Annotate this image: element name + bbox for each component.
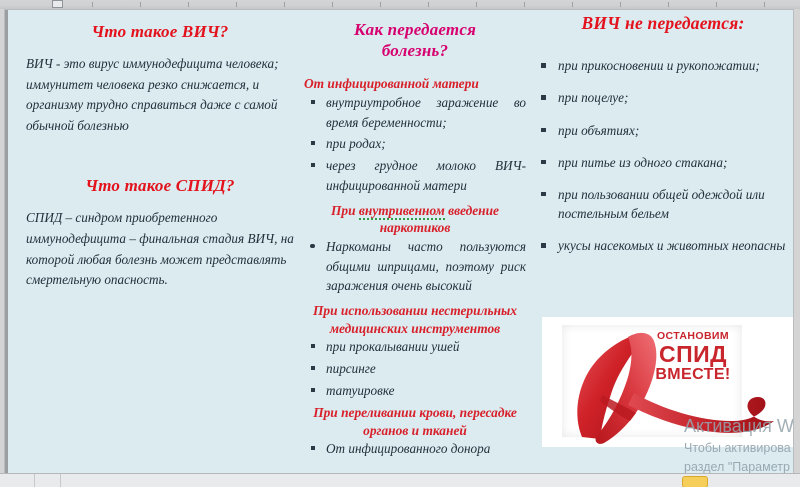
list-from-infected-mother: внутриутробное заражение во время береме… [304, 93, 526, 196]
application-window: Что такое ВИЧ? ВИЧ - это вирус иммунодеф… [0, 0, 800, 487]
list-item: От инфицированного донора [304, 439, 526, 459]
list-item: при поцелуе; [532, 88, 793, 107]
list-item: при прикосновении и рукопожатии; [532, 56, 793, 75]
heading-how-transmitted-line2: болезнь? [304, 41, 526, 62]
status-bar-segment-left[interactable] [0, 474, 35, 487]
list-intravenous-drugs: Наркоманы часто пользуются общими шприца… [304, 237, 526, 296]
list-item: при объятиях; [532, 121, 793, 140]
list-item: укусы насекомых и животных неопасны [532, 236, 793, 255]
misspelled-word: внутривенном [359, 203, 445, 220]
status-bar[interactable] [0, 473, 800, 487]
heading-hiv-not-transmitted: ВИЧ не передается: [532, 13, 793, 34]
paragraph-what-is-hiv: ВИЧ - это вирус иммунодефицита человека;… [26, 54, 294, 137]
ribbon-slogan: ОСТАНОВИМ СПИД ВМЕСТЕ! [638, 331, 748, 383]
list-item: при прокалывании ушей [304, 337, 526, 357]
status-bar-segment-second[interactable] [34, 474, 61, 487]
right-column: ВИЧ не передается: при прикосновении и р… [532, 10, 793, 268]
horizontal-ruler[interactable] [0, 0, 800, 9]
list-item: через грудное молоко ВИЧ-инфицированной … [304, 156, 526, 196]
list-item: внутриутробное заражение во время береме… [304, 93, 526, 133]
list-nonsterile-instruments: при прокалывании ушей пирсинге татуировк… [304, 337, 526, 400]
subheading-blood-transfusion: При переливании крови, пересадке органов… [304, 404, 526, 439]
list-item: пирсинге [304, 359, 526, 379]
list-item: при пользовании общей одеждой или постел… [532, 185, 793, 223]
paragraph-what-is-aids: СПИД – синдром приобретенного иммунодефи… [26, 208, 294, 291]
indent-marker[interactable] [52, 0, 63, 8]
ribbon-slogan-line1: ОСТАНОВИМ [638, 331, 748, 342]
left-column: Что такое ВИЧ? ВИЧ - это вирус иммунодеф… [26, 10, 294, 291]
ribbon-slogan-line2: СПИД [638, 343, 748, 366]
heading-what-is-aids: Что такое СПИД? [26, 176, 294, 197]
subheading-nonsterile-instruments: При использовании нестерильных медицинск… [304, 302, 526, 337]
status-bar-chip[interactable] [682, 476, 708, 487]
subheading-from-infected-mother: От инфицированной матери [304, 75, 526, 92]
heading-how-transmitted-line1: Как передается [304, 20, 526, 41]
subheading-intravenous-drugs: При внутривенном введение наркотиков [304, 202, 526, 237]
list-item: татуировке [304, 381, 526, 401]
list-item: при питье из одного стакана; [532, 153, 793, 172]
document-canvas[interactable]: Что такое ВИЧ? ВИЧ - это вирус иммунодеф… [5, 10, 793, 473]
list-hiv-not-transmitted: при прикосновении и рукопожатии; при поц… [532, 56, 793, 255]
list-blood-transfusion: От инфицированного донора [304, 439, 526, 459]
watermark-line-3: раздел "Параметр [684, 459, 793, 473]
aids-ribbon-image: ОСТАНОВИМ СПИД ВМЕСТЕ! [542, 317, 793, 447]
list-item: при родах; [304, 134, 526, 154]
ribbon-slogan-line3: ВМЕСТЕ! [638, 367, 748, 383]
list-item: Наркоманы часто пользуются общими шприца… [304, 237, 526, 296]
middle-column: Как передается болезнь? От инфицированно… [304, 10, 526, 461]
heading-what-is-hiv: Что такое ВИЧ? [26, 22, 294, 43]
subheading-prefix: При [331, 203, 359, 218]
